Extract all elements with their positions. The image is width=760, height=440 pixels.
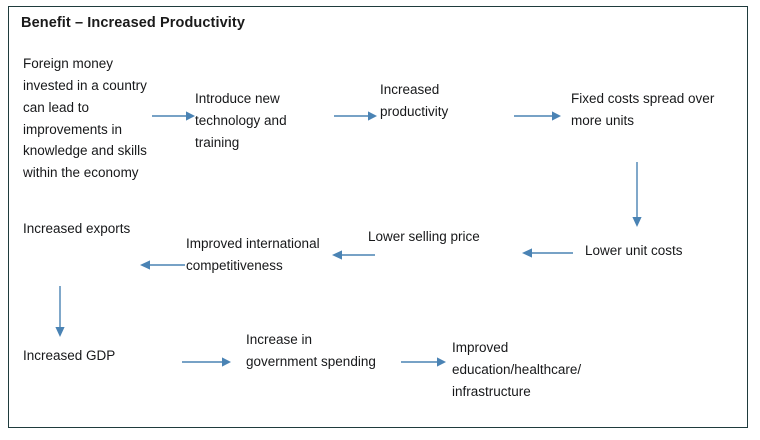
- arrow-increased-gdp-to-government-spending: [182, 355, 232, 369]
- page-title: Benefit – Increased Productivity: [21, 15, 245, 31]
- arrow-foreign-money-to-introduce-technology: [152, 109, 196, 123]
- node-improved-services: Improved education/healthcare/ infrastru…: [452, 337, 624, 403]
- node-increased-gdp: Increased GDP: [23, 345, 163, 367]
- arrow-lower-selling-price-to-competitiveness: [331, 248, 375, 262]
- node-lower-unit-costs: Lower unit costs: [585, 240, 735, 262]
- node-lower-selling-price: Lower selling price: [368, 226, 508, 248]
- arrow-increased-exports-to-increased-gdp: [53, 286, 67, 338]
- arrow-lower-unit-costs-to-lower-selling-price: [521, 246, 573, 260]
- arrow-government-spending-to-improved-services: [401, 355, 447, 369]
- node-increased-productivity: Increased productivity: [380, 79, 500, 123]
- diagram-frame: Benefit – Increased Productivity Foreign…: [8, 6, 748, 428]
- arrow-introduce-technology-to-increased-productivity: [334, 109, 378, 123]
- arrow-fixed-costs-to-lower-unit-costs: [630, 162, 644, 228]
- node-fixed-costs-spread: Fixed costs spread over more units: [571, 88, 731, 132]
- node-introduce-technology: Introduce new technology and training: [195, 88, 323, 154]
- arrow-competitiveness-to-increased-exports: [139, 258, 185, 272]
- node-improved-competitiveness: Improved international competitiveness: [186, 233, 348, 277]
- arrow-increased-productivity-to-fixed-costs: [514, 109, 562, 123]
- node-government-spending: Increase in government spending: [246, 329, 396, 373]
- node-increased-exports: Increased exports: [23, 218, 183, 240]
